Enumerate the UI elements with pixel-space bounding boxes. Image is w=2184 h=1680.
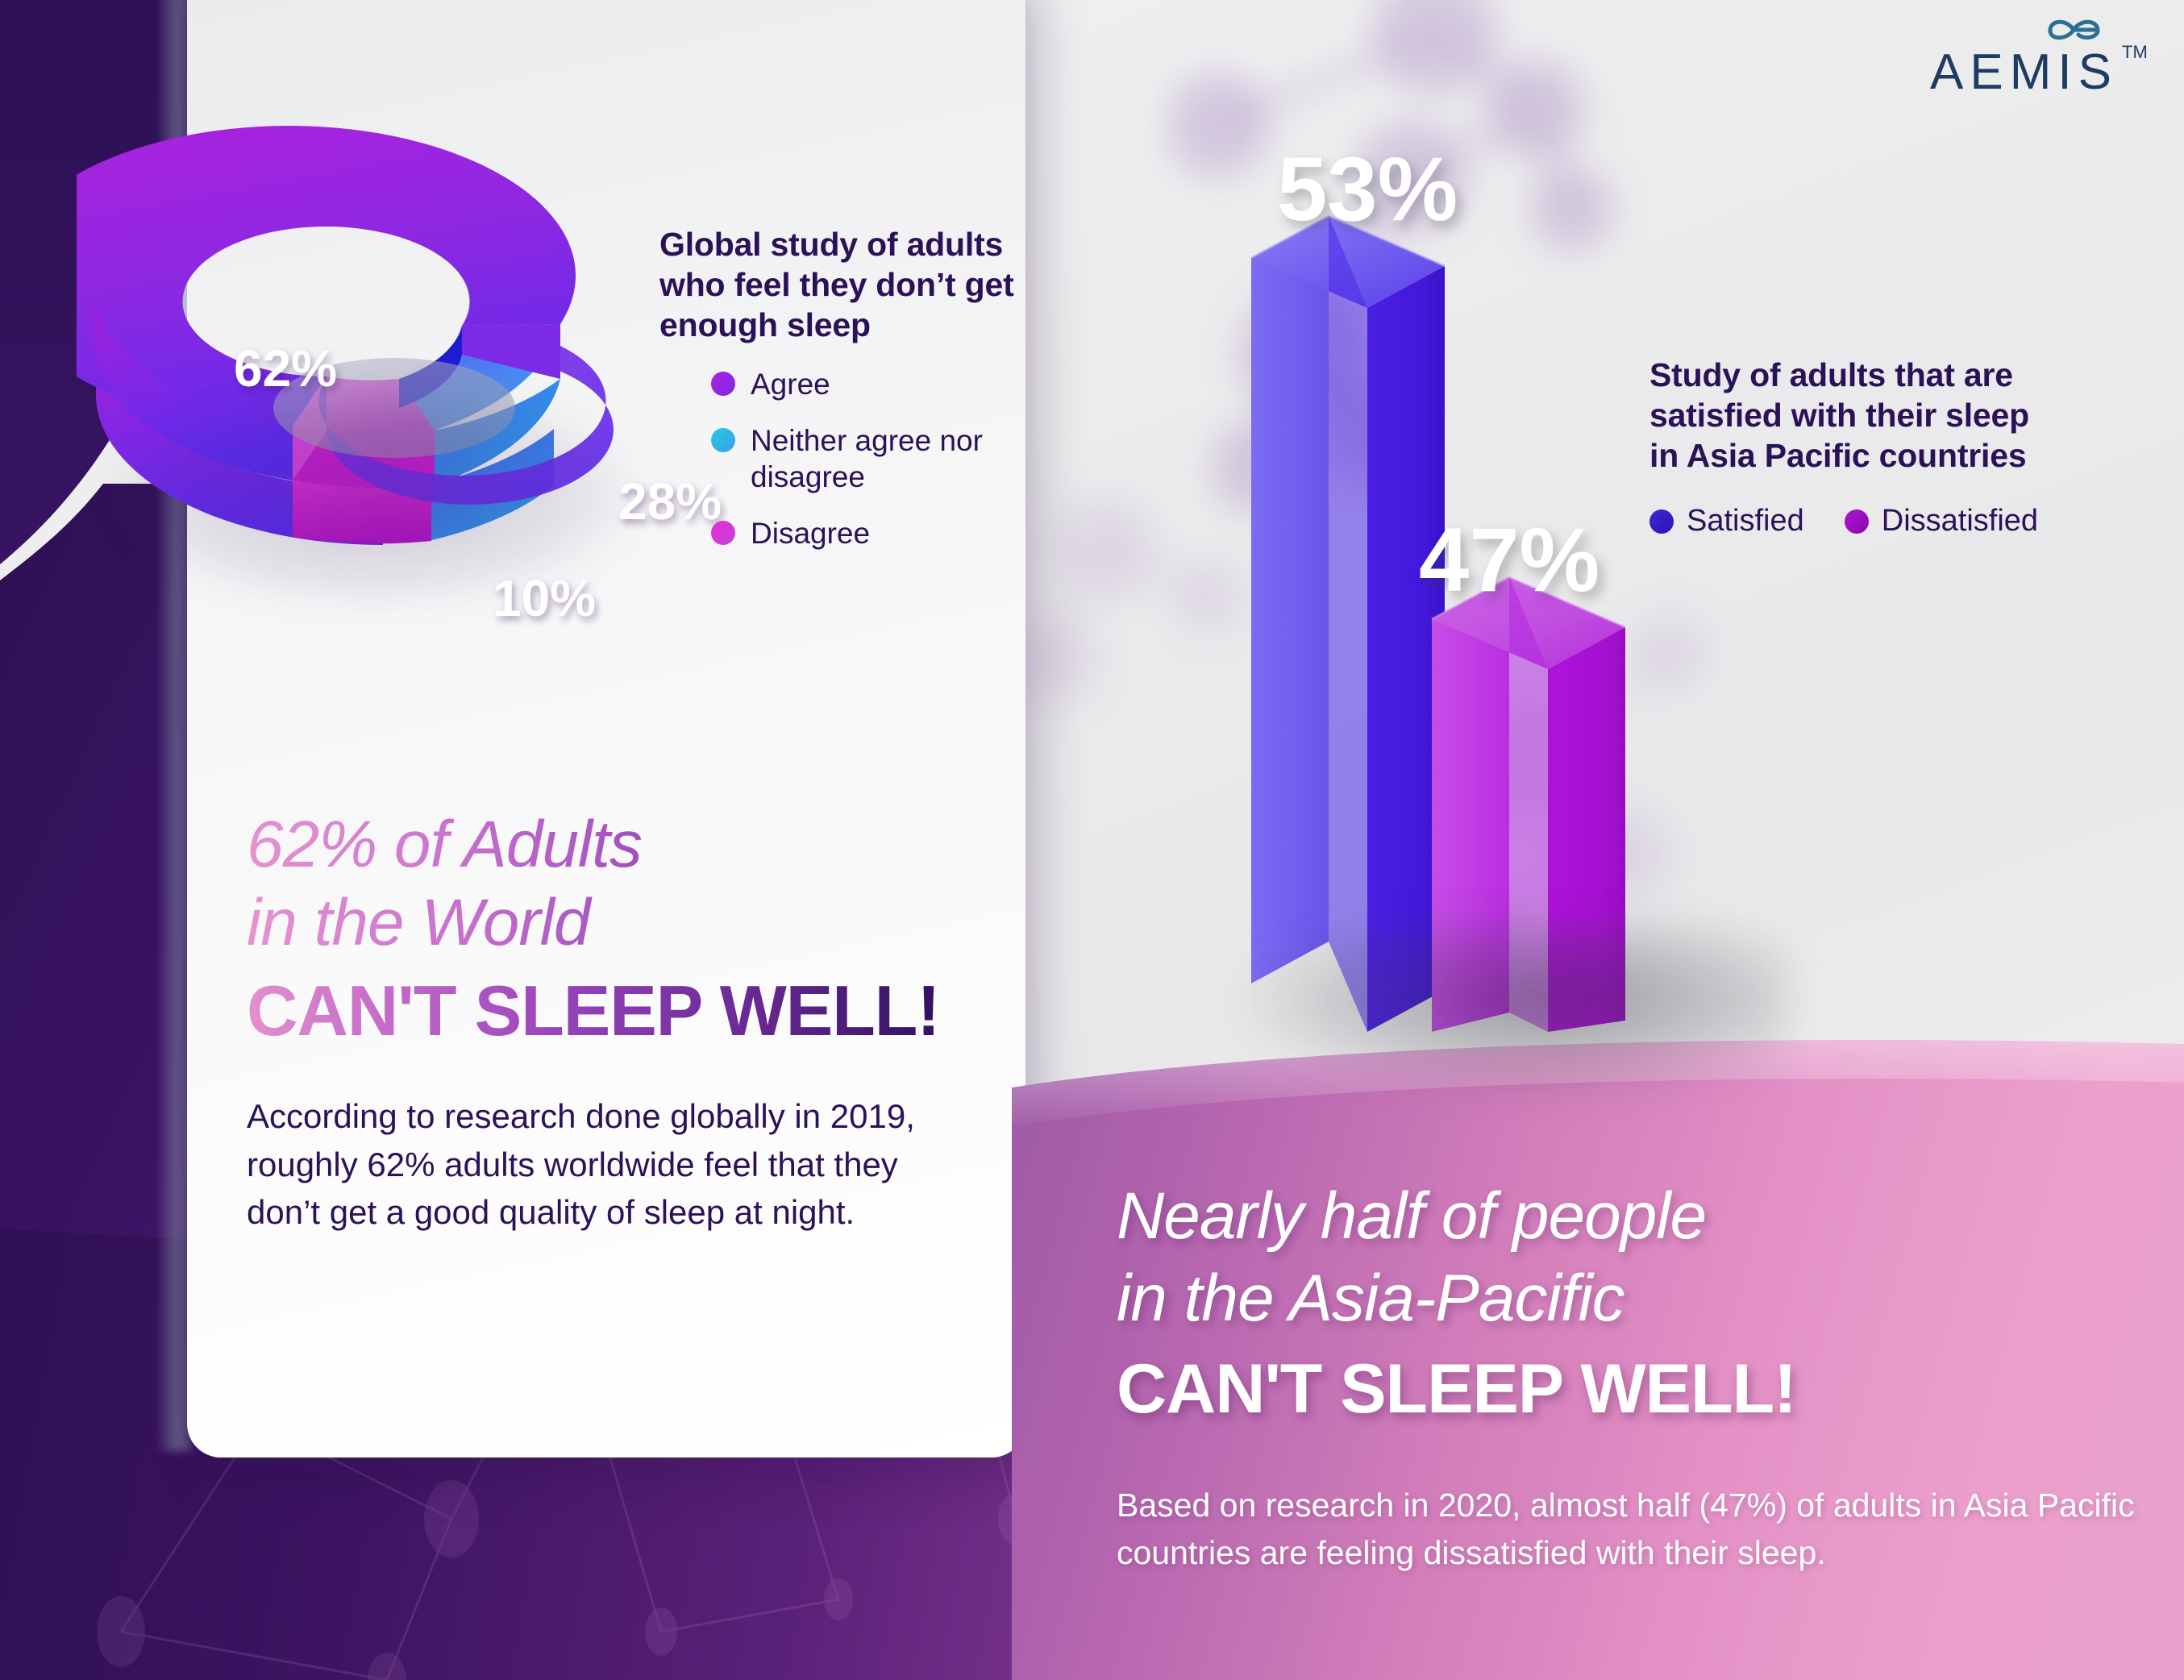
legend-dot-neither (711, 428, 735, 452)
donut-chart-3d[interactable]: 62% 28% 10% (77, 113, 689, 629)
legend-label-agree: Agree (751, 367, 830, 402)
bar-label-satisfied: 53% (1277, 137, 1458, 241)
right-headline-line1: Nearly half of people (1117, 1177, 2124, 1256)
brand-trademark: TM (2122, 42, 2148, 63)
legend-dot-satisfied (1649, 509, 1674, 534)
right-chart-legend[interactable]: Satisfied Dissatisfied (1649, 504, 2078, 539)
right-headline: Nearly half of people in the Asia-Pacifi… (1117, 1177, 2124, 1432)
legend-label-neither: Neither agree nor disagree (751, 423, 992, 495)
left-headline-line2: in the World (247, 884, 996, 963)
bar-drop-shadow (1242, 919, 1790, 1096)
legend-label-dissatisfied: Dissatisfied (1882, 504, 2038, 539)
right-chart-heading: Study of adults that are satisfied with … (1649, 355, 2053, 476)
legend-item-agree[interactable]: Agree (711, 367, 1034, 402)
bar-satisfied (1251, 216, 1445, 1032)
legend-item-dissatisfied[interactable]: Dissatisfied (1845, 504, 2038, 539)
legend-dot-disagree (711, 521, 735, 545)
donut-label-neither: 28% (618, 472, 722, 531)
donut-label-agree: 62% (234, 339, 337, 398)
infographic-canvas: 62% 28% 10% Global study of adults who f… (0, 0, 2184, 1680)
left-chart-heading: Global study of adults who feel they don… (659, 224, 1038, 345)
left-chart-legend[interactable]: Agree Neither agree nor disagree Disagre… (711, 367, 1034, 573)
right-body-text: Based on research in 2020, almost half (… (1117, 1482, 2165, 1578)
legend-label-satisfied: Satisfied (1687, 504, 1804, 539)
right-headline-line3: CAN'T SLEEP WELL! (1117, 1347, 2124, 1432)
left-headline: 62% of Adults in the World CAN'T SLEEP W… (247, 806, 996, 1054)
ae-infinity-icon (2043, 16, 2104, 44)
legend-item-neither[interactable]: Neither agree nor disagree (711, 423, 1034, 495)
brand-wordmark: AEMIS (1930, 44, 2118, 101)
legend-label-disagree: Disagree (751, 516, 870, 551)
bar-label-dissatisfied: 47% (1419, 508, 1600, 612)
right-headline-line2: in the Asia-Pacific (1117, 1259, 2124, 1338)
left-body-text: According to research done globally in 2… (247, 1092, 916, 1237)
legend-dot-agree (711, 372, 735, 396)
brand-logo[interactable]: AEMIS TM (1930, 19, 2156, 97)
left-headline-line1: 62% of Adults (247, 806, 996, 884)
legend-item-disagree[interactable]: Disagree (711, 516, 1034, 551)
bar-chart-3d[interactable]: 53% 47% (1209, 145, 1822, 1032)
legend-item-satisfied[interactable]: Satisfied (1649, 504, 1804, 539)
donut-label-disagree: 10% (493, 568, 596, 628)
legend-dot-dissatisfied (1845, 509, 1869, 534)
left-headline-line3: CAN'T SLEEP WELL! (247, 967, 996, 1054)
